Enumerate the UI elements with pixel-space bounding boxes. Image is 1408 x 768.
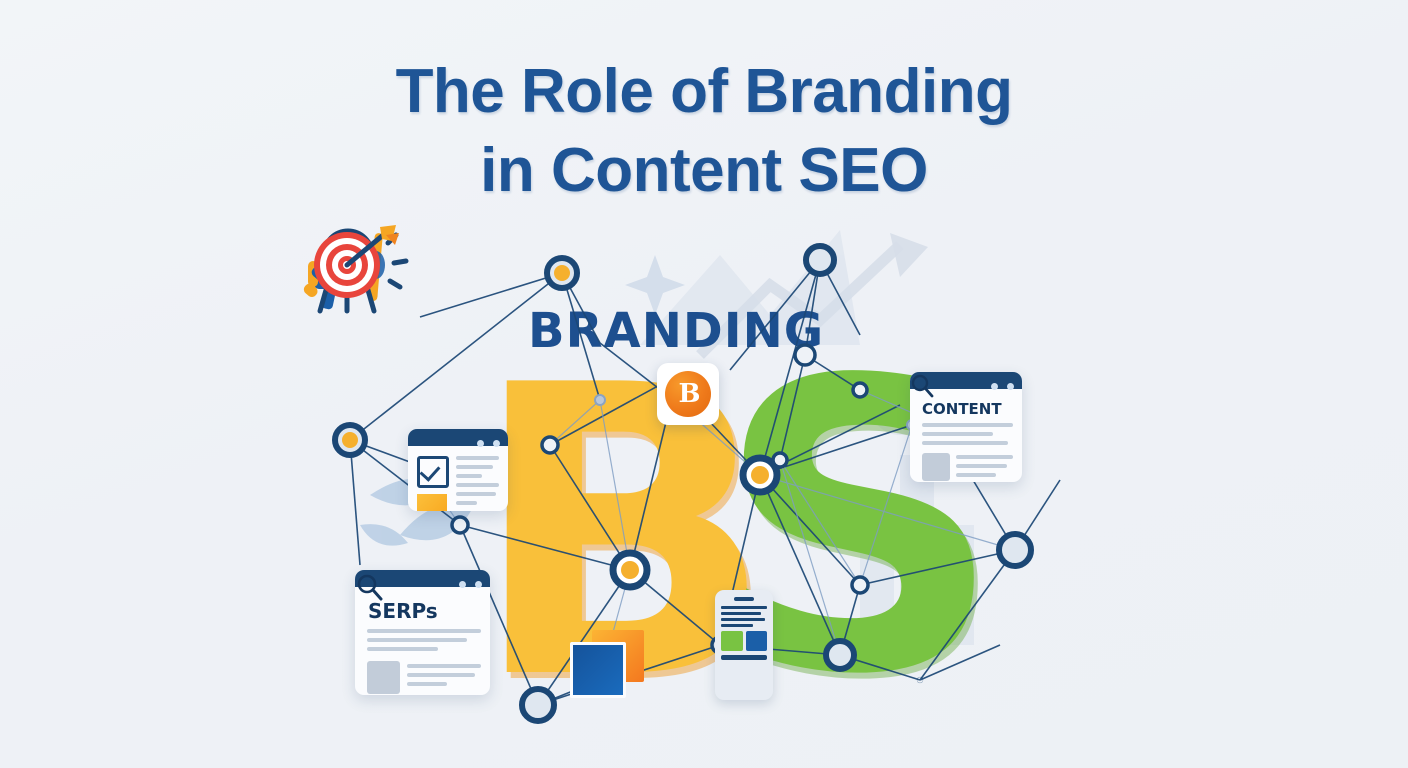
card-body	[408, 446, 508, 511]
window-dots	[454, 575, 482, 593]
content-card-row-2	[919, 453, 1013, 482]
window-dot	[493, 440, 500, 447]
phone-speaker	[734, 597, 754, 601]
phone-cta-bar	[721, 655, 767, 660]
content-card-title: CONTENT	[922, 400, 1013, 418]
stacked-squares-icon	[570, 630, 648, 692]
poster-canvas: The Role of Branding in Content SEO	[0, 0, 1408, 768]
checklist-row	[417, 454, 499, 511]
content-card[interactable]: CONTENT	[910, 372, 1022, 482]
logo-circle: B	[665, 371, 711, 417]
checklist-card[interactable]	[408, 429, 508, 511]
card-body: SERPs	[355, 587, 490, 695]
phone-thumbnails	[721, 631, 767, 651]
window-dot	[475, 581, 482, 588]
window-dot	[459, 581, 466, 588]
window-dots	[986, 377, 1014, 395]
logo-monogram: B	[679, 379, 698, 409]
serps-card-title: SERPs	[368, 599, 481, 623]
magnifier-icon	[910, 374, 934, 398]
serps-card[interactable]: SERPs	[355, 570, 490, 695]
checkbox-icon[interactable]	[417, 456, 449, 488]
thumbnail	[367, 661, 400, 694]
logo-badge[interactable]: B	[657, 363, 719, 425]
thumbnail-green	[721, 631, 743, 651]
window-dot	[991, 383, 998, 390]
text-lines	[407, 661, 481, 694]
title-line-2: in Content SEO	[0, 131, 1408, 210]
text-lines	[956, 453, 1013, 482]
target-icon	[300, 225, 400, 317]
square-blue	[570, 642, 626, 698]
orange-thumbnail	[417, 494, 447, 511]
serps-card-row-2	[364, 661, 481, 694]
window-dot	[477, 440, 484, 447]
thumbnail-blue	[746, 631, 768, 651]
phone-mockup-icon[interactable]	[715, 590, 773, 700]
serps-card-row	[364, 626, 481, 656]
window-dots	[472, 434, 500, 452]
window-dot	[1007, 383, 1014, 390]
text-lines	[367, 626, 481, 656]
page-title: The Role of Branding in Content SEO	[0, 52, 1408, 211]
card-title-bar	[408, 429, 508, 446]
magnifier-icon	[355, 573, 383, 601]
content-card-row	[919, 421, 1013, 450]
title-line-1: The Role of Branding	[396, 57, 1013, 126]
card-body: CONTENT	[910, 389, 1022, 482]
text-lines	[456, 456, 499, 511]
illustration: B S BRANDING	[300, 225, 1090, 745]
thumbnail	[922, 453, 950, 481]
text-lines	[922, 421, 1013, 450]
